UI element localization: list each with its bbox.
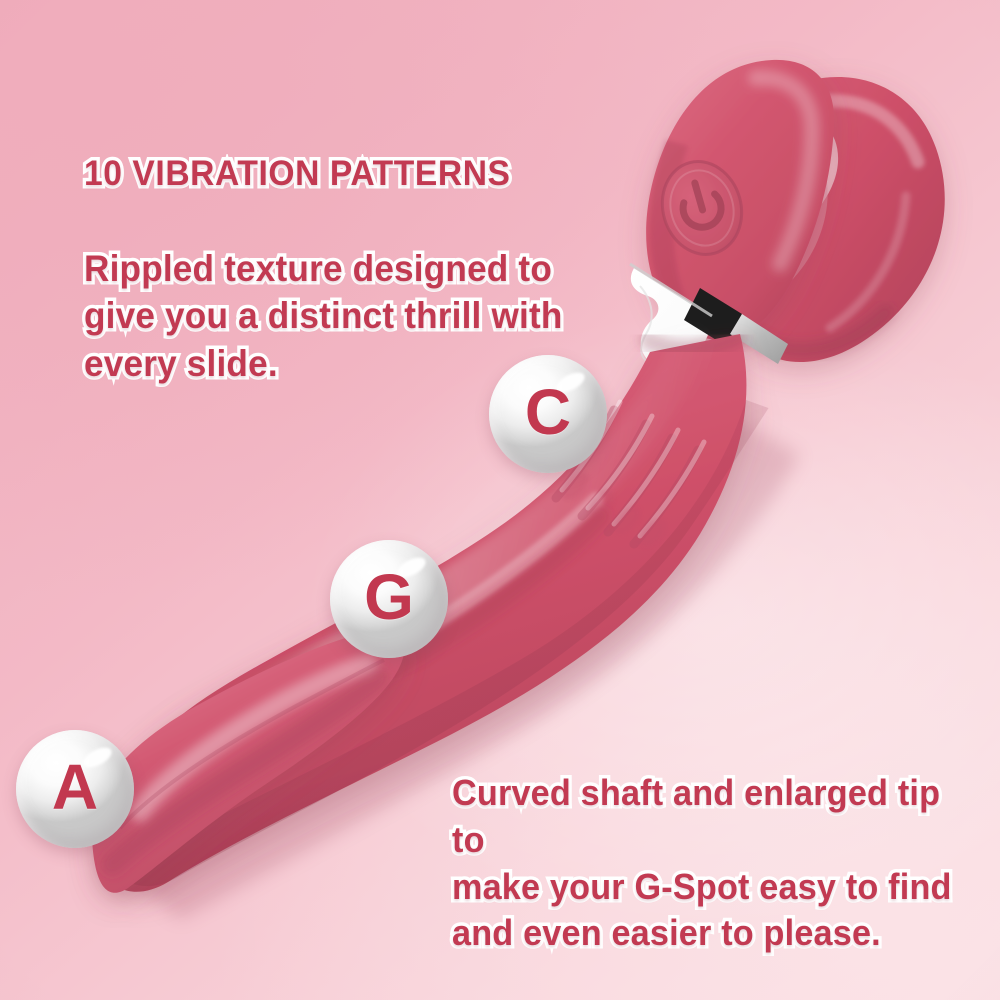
badge-a: A bbox=[16, 730, 134, 848]
product-feature-graphic: 10 VIBRATION PATTERNS Rippled texture de… bbox=[0, 0, 1000, 1000]
bottom-copy: Curved shaft and enlarged tip to make yo… bbox=[452, 770, 973, 957]
headline: 10 VIBRATION PATTERNS bbox=[84, 155, 511, 192]
badge-g-letter: G bbox=[364, 565, 414, 629]
badge-c: C bbox=[489, 355, 607, 473]
badge-a-letter: A bbox=[52, 755, 98, 819]
badge-c-letter: C bbox=[525, 380, 571, 444]
subheadline: Rippled texture designed to give you a d… bbox=[84, 245, 563, 387]
badge-g: G bbox=[330, 540, 448, 658]
